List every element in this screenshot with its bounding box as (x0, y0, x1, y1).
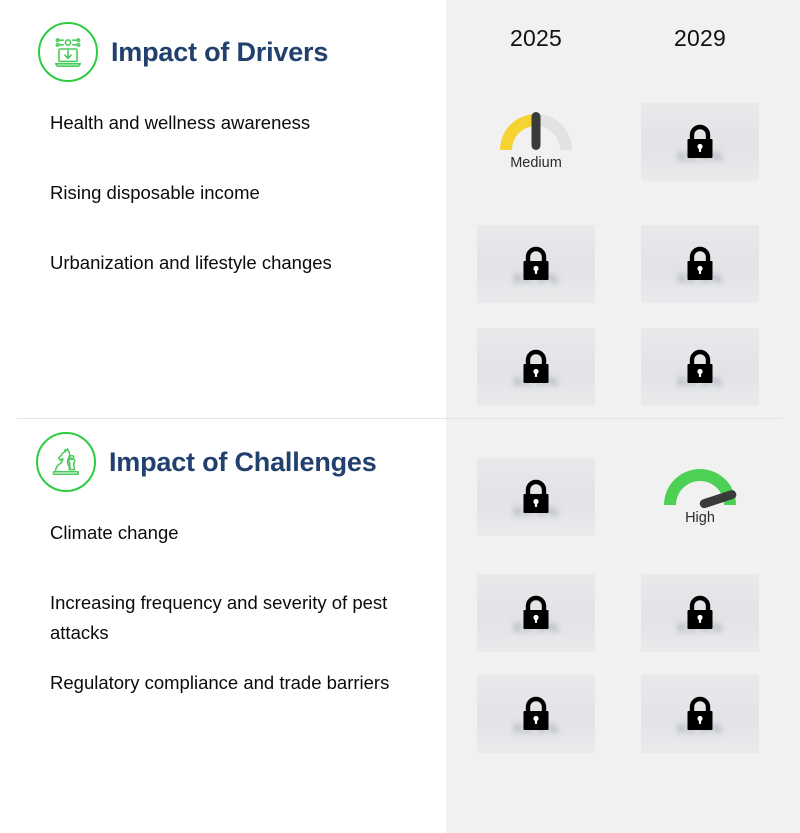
locked-tile[interactable]: XX.X% (641, 675, 759, 753)
driver-row-label-1: Health and wellness awareness (50, 108, 410, 138)
challenge-cell-3-2029[interactable]: XX.X% (641, 675, 759, 753)
lock-icon (681, 692, 719, 736)
section-header-challenges: Impact of Challenges (36, 432, 377, 492)
driver-cell-3-2029[interactable]: XX.X% (641, 328, 759, 406)
driver-row-label-3: Urbanization and lifestyle changes (50, 248, 410, 278)
section-divider (17, 418, 783, 419)
locked-tile[interactable]: XX.X% (477, 225, 595, 303)
challenge-row-label-2: Increasing frequency and severity of pes… (50, 588, 410, 648)
gauge-label-medium: Medium (477, 155, 595, 171)
impact-matrix-page: 2025 2029 Impact of Drivers Health and w… (0, 0, 800, 833)
challenge-cell-2-2025[interactable]: XX.X% (477, 574, 595, 652)
driver-cell-1-2029[interactable]: XX.X% (641, 103, 759, 181)
challenge-cell-1-2029[interactable]: High (641, 461, 759, 526)
gauge-medium: Medium (477, 106, 595, 171)
gauge-high: High (641, 461, 759, 526)
locked-tile[interactable]: XX.X% (641, 103, 759, 181)
lock-icon (517, 692, 555, 736)
driver-cell-2-2029[interactable]: XX.X% (641, 225, 759, 303)
locked-tile[interactable]: XX.X% (641, 328, 759, 406)
lock-icon (517, 475, 555, 519)
locked-tile[interactable]: XX.X% (641, 574, 759, 652)
locked-tile[interactable]: XX.X% (477, 675, 595, 753)
driver-row-label-2: Rising disposable income (50, 178, 410, 208)
section-header-drivers: Impact of Drivers (38, 22, 328, 82)
lock-icon (681, 242, 719, 286)
locked-tile[interactable]: XX.X% (477, 574, 595, 652)
section-title-drivers: Impact of Drivers (111, 37, 328, 68)
chess-pieces-icon (36, 432, 96, 492)
drivers-laptop-arrow-icon (38, 22, 98, 82)
challenge-row-label-3: Regulatory compliance and trade barriers (50, 668, 410, 698)
lock-icon (517, 591, 555, 635)
challenge-cell-1-2025[interactable]: XX.X% (477, 458, 595, 536)
challenge-row-label-1: Climate change (50, 518, 410, 548)
lock-icon (681, 591, 719, 635)
driver-cell-3-2025[interactable]: XX.X% (477, 328, 595, 406)
section-title-challenges: Impact of Challenges (109, 447, 377, 478)
lock-icon (681, 120, 719, 164)
driver-cell-2-2025[interactable]: XX.X% (477, 225, 595, 303)
gauge-label-high: High (641, 510, 759, 526)
locked-tile[interactable]: XX.X% (477, 458, 595, 536)
challenge-cell-2-2029[interactable]: XX.X% (641, 574, 759, 652)
challenge-cell-3-2025[interactable]: XX.X% (477, 675, 595, 753)
column-header-2025: 2025 (477, 25, 595, 52)
lock-icon (681, 345, 719, 389)
lock-icon (517, 345, 555, 389)
locked-tile[interactable]: XX.X% (641, 225, 759, 303)
column-header-2029: 2029 (641, 25, 759, 52)
driver-cell-1-2025[interactable]: Medium (477, 106, 595, 171)
locked-tile[interactable]: XX.X% (477, 328, 595, 406)
lock-icon (517, 242, 555, 286)
